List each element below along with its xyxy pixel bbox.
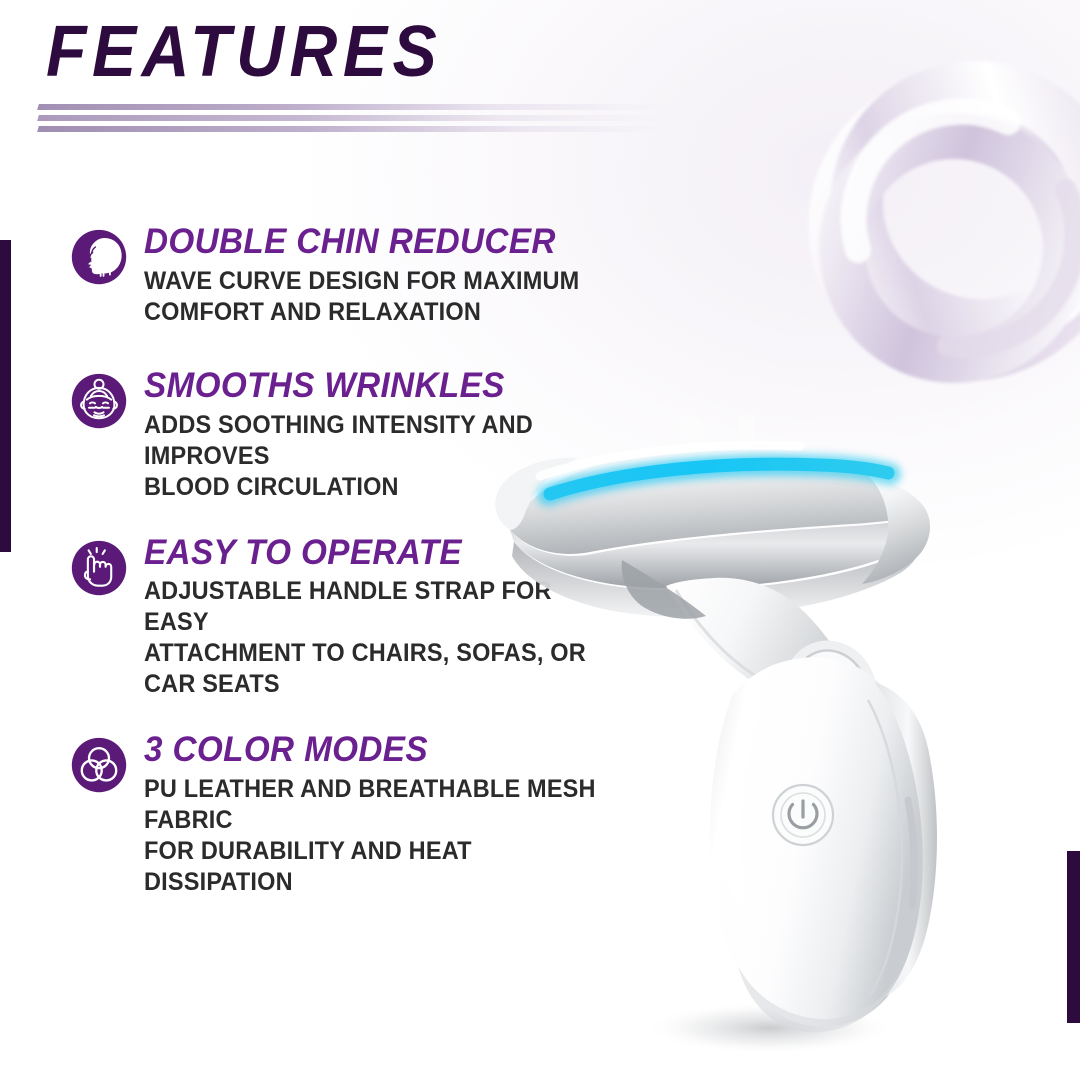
- left-accent-bar: [0, 240, 11, 552]
- right-accent-bar: [1067, 851, 1080, 1023]
- feature-text: SMOOTHS WRINKLES ADDS SOOTHING INTENSITY…: [144, 368, 630, 503]
- tapping-hand-icon: [70, 539, 128, 597]
- title-underline-rules: [38, 104, 678, 138]
- feature-title: DOUBLE CHIN REDUCER: [144, 224, 606, 260]
- background-watermark: N: [670, 400, 762, 533]
- feature-text: 3 COLOR MODES PU LEATHER AND BREATHABLE …: [144, 732, 630, 898]
- feature-text: DOUBLE CHIN REDUCER WAVE CURVE DESIGN FO…: [144, 224, 630, 328]
- feature-item-smooths-wrinkles: SMOOTHS WRINKLES ADDS SOOTHING INTENSITY…: [70, 368, 630, 503]
- wrinkled-face-icon: [70, 372, 128, 430]
- feature-description: WAVE CURVE DESIGN FOR MAXIMUM COMFORT AN…: [144, 266, 601, 328]
- title-rule-1: [37, 104, 664, 110]
- three-circles-venn-icon: [70, 736, 128, 794]
- rotating-joint: [769, 626, 892, 753]
- feature-description: PU LEATHER AND BREATHABLE MESH FABRIC FO…: [144, 774, 601, 898]
- swirl-ribbon-graphic: [798, 10, 1080, 440]
- face-profile-icon: [70, 228, 128, 286]
- feature-item-3-color-modes: 3 COLOR MODES PU LEATHER AND BREATHABLE …: [70, 732, 630, 898]
- feature-item-easy-to-operate: EASY TO OPERATE ADJUSTABLE HANDLE STRAP …: [70, 535, 630, 701]
- feature-title: EASY TO OPERATE: [144, 535, 606, 571]
- page-title: FEATURES: [46, 16, 442, 88]
- title-rule-3: [37, 126, 664, 132]
- feature-item-double-chin-reducer: DOUBLE CHIN REDUCER WAVE CURVE DESIGN FO…: [70, 224, 630, 336]
- features-list: DOUBLE CHIN REDUCER WAVE CURVE DESIGN FO…: [70, 224, 630, 930]
- power-button: [773, 785, 833, 845]
- feature-description: ADJUSTABLE HANDLE STRAP FOR EASY ATTACHM…: [144, 576, 601, 700]
- infographic-canvas: FEATURES DOUBLE CHIN REDUCER WAVE CURVE …: [0, 0, 1080, 1080]
- feature-title: 3 COLOR MODES: [144, 732, 606, 768]
- feature-text: EASY TO OPERATE ADJUSTABLE HANDLE STRAP …: [144, 535, 630, 701]
- side-slot: [908, 800, 914, 906]
- feature-title: SMOOTHS WRINKLES: [144, 368, 606, 404]
- feature-description: ADDS SOOTHING INTENSITY AND IMPROVES BLO…: [144, 410, 601, 503]
- title-rule-2: [37, 115, 664, 121]
